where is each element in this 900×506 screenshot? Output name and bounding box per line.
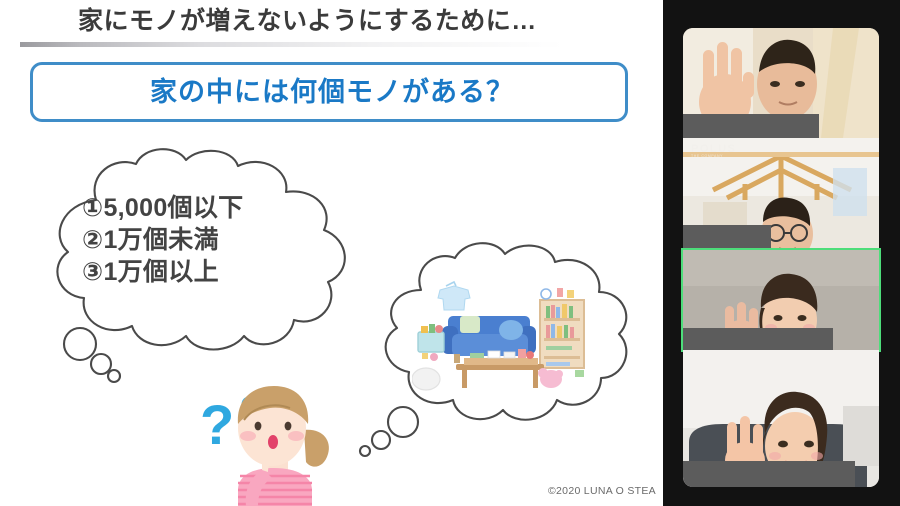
participant-4-name-redaction [683, 461, 855, 487]
option-item: ③1万個以上 [82, 256, 342, 288]
question-highlight-box: 家の中には何個モノがある？ [30, 62, 628, 122]
video-tile-participant-1[interactable] [683, 28, 879, 138]
room-clutter-illustration [412, 278, 612, 398]
video-tile-participant-2[interactable]: POLUSTHE COMPANY [683, 138, 879, 250]
participant-2-name-redaction [683, 225, 771, 250]
floor-cushion-icon [412, 368, 440, 390]
participant-3-name-redaction [683, 328, 833, 350]
presentation-screen: 家にモノが増えないようにするために… 家の中には何個モノがある？ ①5,000個… [0, 0, 900, 506]
copyright-notice: ©2020 LUNA O STEA [548, 485, 656, 497]
answer-options-list: ①5,000個以下 ②1万個未満 ③1万個以上 [82, 192, 342, 288]
thinking-person-illustration [200, 378, 355, 506]
toy-box-icon [418, 324, 444, 361]
video-tile-participant-3-active-speaker[interactable] [683, 250, 879, 350]
polus-watermark: POLUSTHE COMPANY [691, 144, 736, 159]
video-tile-participant-4[interactable] [683, 350, 879, 487]
video-participant-rail: POLUSTHE COMPANY [663, 0, 900, 506]
option-item: ①5,000個以下 [82, 192, 342, 224]
slide-title: 家にモノが増えないようにするために… [78, 4, 638, 38]
hanging-shirt-icon [438, 282, 470, 310]
slide-content-area: 家にモノが増えないようにするために… 家の中には何個モノがある？ ①5,000個… [0, 0, 663, 506]
title-divider-rule [20, 42, 660, 47]
question-text: 家の中には何個モノがある？ [33, 65, 631, 119]
participant-1-name-redaction [683, 114, 819, 138]
green-item-icon [575, 370, 584, 377]
stuffed-animal-icon [538, 368, 563, 388]
option-item: ②1万個未満 [82, 224, 342, 256]
bookshelf-icon [540, 288, 584, 368]
polus-watermark-sub: THE COMPANY [691, 155, 736, 159]
